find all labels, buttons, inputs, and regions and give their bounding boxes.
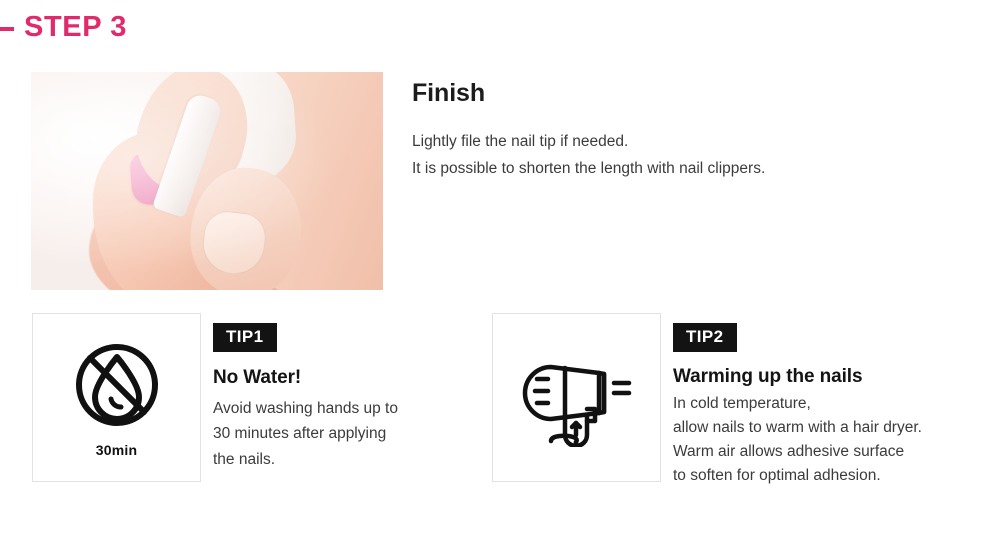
tip1-heading: No Water! <box>213 367 513 390</box>
tip2-line: to soften for optimal adhesion. <box>673 464 1000 488</box>
tip1-line: Avoid washing hands up to <box>213 396 513 421</box>
finish-title: Finish <box>412 80 932 108</box>
step-3-instruction-page: STEP 3 Finish Lightly file the nail tip … <box>0 0 1000 546</box>
page-title: STEP 3 <box>24 13 127 42</box>
step-header: STEP 3 <box>0 13 127 42</box>
no-water-icon <box>69 337 165 438</box>
tip1-line: 30 minutes after applying <box>213 421 513 446</box>
tip1-description: Avoid washing hands up to 30 minutes aft… <box>213 396 513 471</box>
finish-line: It is possible to shorten the length wit… <box>412 155 932 182</box>
tip1-icon-box: 30min <box>32 313 201 482</box>
tip2-badge: TIP2 <box>673 323 737 352</box>
tip1-line: the nails. <box>213 447 513 472</box>
finish-section: Finish Lightly file the nail tip if need… <box>412 80 932 182</box>
tip2-line: allow nails to warm with a hair dryer. <box>673 416 1000 440</box>
step-photo <box>31 72 383 290</box>
tip2-icon-box <box>492 313 661 482</box>
tip1-badge: TIP1 <box>213 323 277 352</box>
horizontal-dash-icon <box>0 27 14 31</box>
tip1-icon-caption: 30min <box>96 442 137 458</box>
tip2-heading: Warming up the nails <box>673 366 1000 389</box>
tip2-description: In cold temperature, allow nails to warm… <box>673 392 1000 488</box>
finish-description: Lightly file the nail tip if needed. It … <box>412 128 932 182</box>
tip2-body: TIP2 Warming up the nails In cold temper… <box>673 323 1000 488</box>
photo-illustration <box>31 72 383 290</box>
tip2-line: Warm air allows adhesive surface <box>673 440 1000 464</box>
tip1-body: TIP1 No Water! Avoid washing hands up to… <box>213 323 513 472</box>
finish-line: Lightly file the nail tip if needed. <box>412 128 932 155</box>
tip2-line: In cold temperature, <box>673 392 1000 416</box>
hair-dryer-icon <box>521 343 633 452</box>
photo-vignette <box>31 72 383 290</box>
